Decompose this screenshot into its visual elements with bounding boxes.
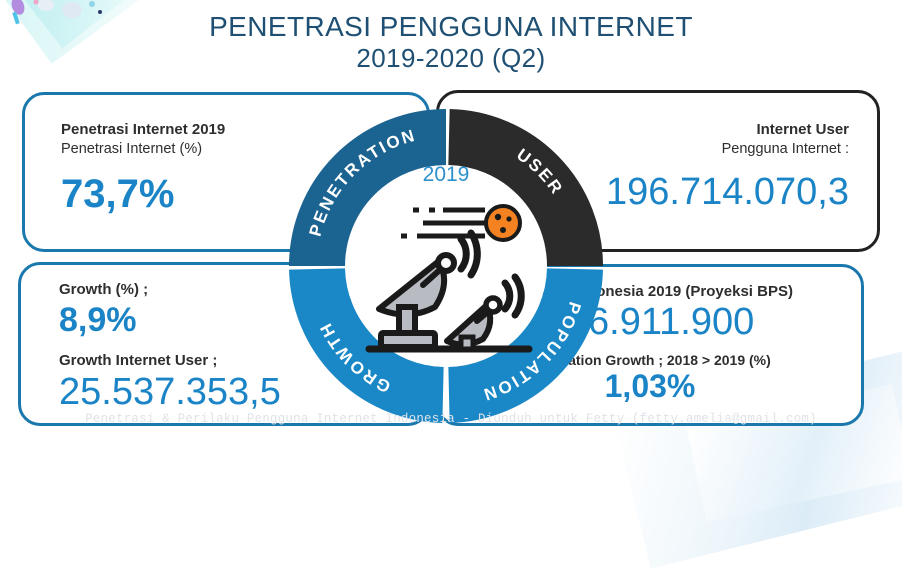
growth-percent-value: 8,9% bbox=[59, 303, 281, 339]
card-internet-user-content: Internet User Pengguna Internet : 196.71… bbox=[606, 121, 849, 212]
page-title-line-1: PENETRASI PENGGUNA INTERNET bbox=[0, 10, 902, 43]
growth-users-value: 25.537.353,5 bbox=[59, 373, 281, 413]
watermark-text: Penetrasi & Perilaku Pengguna Internet I… bbox=[0, 412, 902, 426]
card-growth-content: Growth (%) ; 8,9% Growth Internet User ;… bbox=[59, 281, 281, 413]
growth-users-label: Growth Internet User ; bbox=[59, 352, 281, 371]
orange-node-icon bbox=[486, 206, 520, 240]
penetration-heading: Penetrasi Internet 2019 bbox=[61, 121, 225, 140]
user-value: 196.714.070,3 bbox=[606, 173, 849, 213]
donut-chart: PENETRATION USER GROWTH POPULATION 2019 bbox=[281, 101, 611, 431]
page-title-line-2: 2019-2020 (Q2) bbox=[0, 43, 902, 74]
page-title: PENETRASI PENGGUNA INTERNET 2019-2020 (Q… bbox=[0, 10, 902, 74]
user-heading: Internet User bbox=[606, 121, 849, 140]
card-penetration-content: Penetrasi Internet 2019 Penetrasi Intern… bbox=[61, 121, 225, 215]
penetration-value: 73,7% bbox=[61, 173, 225, 215]
donut-center-year: 2019 bbox=[281, 163, 611, 187]
satellite-dish-icon bbox=[343, 197, 549, 367]
growth-percent-label: Growth (%) ; bbox=[59, 281, 281, 300]
user-subheading: Pengguna Internet : bbox=[606, 140, 849, 159]
penetration-subheading: Penetrasi Internet (%) bbox=[61, 140, 225, 159]
